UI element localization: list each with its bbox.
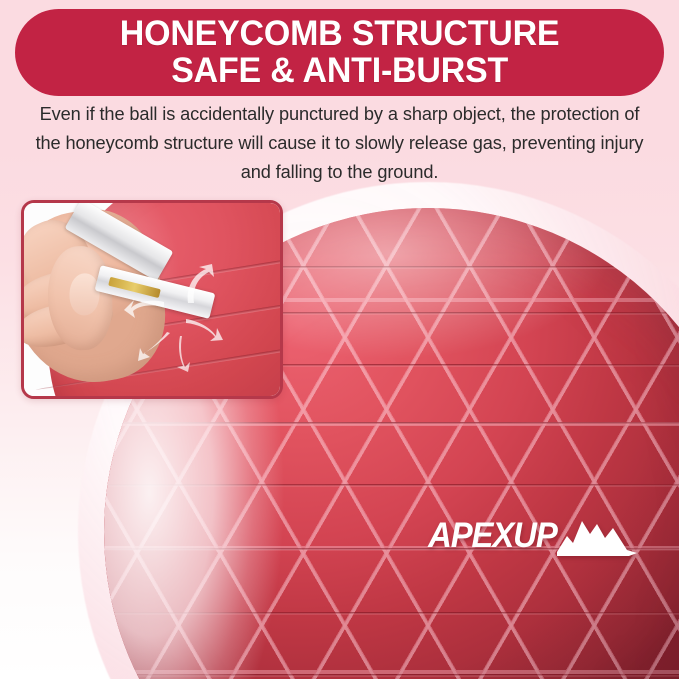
- mountain-peak-icon: [557, 512, 639, 561]
- puncture-demo-card: [21, 200, 283, 399]
- subtitle-paragraph: Even if the ball is accidentally punctur…: [26, 100, 653, 187]
- brand-logo: APEXUP: [424, 512, 639, 559]
- header-banner: HONEYCOMB STRUCTURE SAFE & ANTI-BURST: [15, 9, 664, 96]
- gas-arrow-downleft-icon: [136, 331, 174, 367]
- banner-title-line-2: SAFE & ANTI-BURST: [171, 54, 508, 88]
- brand-logo-text: APEXUP: [428, 518, 557, 553]
- product-infographic: HONEYCOMB STRUCTURE SAFE & ANTI-BURST Ev…: [0, 0, 679, 679]
- gas-arrow-down-icon: [172, 335, 196, 373]
- banner-title-line-1: HONEYCOMB STRUCTURE: [120, 17, 560, 51]
- gas-arrow-upright-icon: [182, 263, 216, 305]
- gas-arrow-left-icon: [122, 297, 166, 323]
